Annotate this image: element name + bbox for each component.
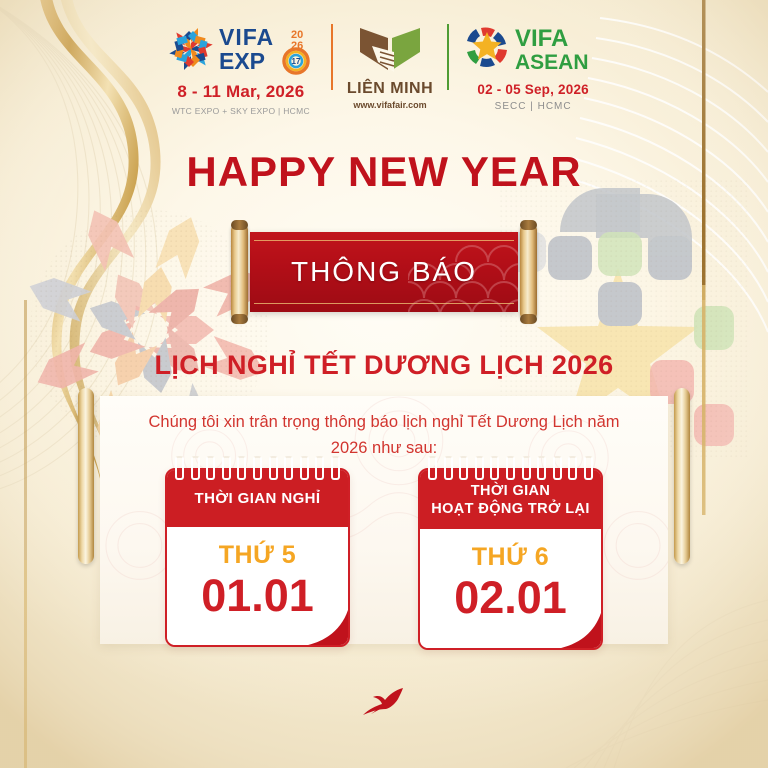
ring [284, 456, 293, 480]
svg-text:EXP: EXP [219, 48, 265, 74]
svg-text:VIFA: VIFA [219, 24, 274, 50]
banner-red-field: THÔNG BÁO [250, 232, 518, 312]
calendar-rings [175, 456, 340, 480]
vifa-expo-logo-block[interactable]: VIFA EXP 20 26 17 8 - 11 Mar, 2026 WTC E… [151, 22, 331, 116]
scroll-rod-right [520, 222, 537, 322]
calendar-weekday: THỨ 5 [173, 541, 342, 570]
ring [428, 456, 437, 480]
ring [191, 456, 200, 480]
announcement-banner: THÔNG BÁO [0, 222, 768, 322]
ring [444, 456, 453, 480]
ring [475, 456, 484, 480]
page-title: LỊCH NGHỈ TẾT DƯƠNG LỊCH 2026 [0, 350, 768, 381]
ring [331, 456, 340, 480]
ring [522, 456, 531, 480]
ring [222, 456, 231, 480]
vifa-expo-icon: VIFA EXP 20 26 17 [165, 22, 317, 76]
ring [175, 456, 184, 480]
lien-minh-logo-mark [354, 22, 426, 76]
calendar-body: THỜI GIAN HOẠT ĐỘNG TRỞ LẠI THỨ 6 02.01 [418, 468, 603, 650]
scroll-rod-left [231, 222, 248, 322]
intro-text: Chúng tôi xin trân trọng thông báo lịch … [134, 410, 634, 461]
calendar-cards: THỜI GIAN NGHỈ THỨ 5 01.01 [0, 468, 768, 650]
lien-minh-icon [354, 22, 426, 76]
ring [253, 456, 262, 480]
partner-logos-row: VIFA EXP 20 26 17 8 - 11 Mar, 2026 WTC E… [0, 22, 768, 116]
calendar-body: THỜI GIAN NGHỈ THỨ 5 01.01 [165, 468, 350, 647]
ring [269, 456, 278, 480]
greeting-title: HAPPY NEW YEAR [0, 148, 768, 196]
lien-minh-name: LIÊN MINH [347, 80, 433, 98]
ring [537, 456, 546, 480]
calendar-title-line2: HOẠT ĐỘNG TRỞ LẠI [431, 500, 590, 518]
page-curl-icon [292, 603, 350, 647]
vifa-asean-date: 02 - 05 Sep, 2026 [477, 82, 588, 97]
ring [584, 456, 593, 480]
lien-minh-url[interactable]: www.vifafair.com [353, 100, 426, 110]
ring [490, 456, 499, 480]
calendar-card-holiday[interactable]: THỜI GIAN NGHỈ THỨ 5 01.01 [165, 468, 350, 650]
ring [300, 456, 309, 480]
ring [568, 456, 577, 480]
ring [237, 456, 246, 480]
vifa-asean-logo-mark: VIFA ASEAN [463, 22, 603, 76]
calendar-rings [428, 456, 593, 480]
svg-text:ASEAN: ASEAN [515, 51, 589, 74]
ring [315, 456, 324, 480]
svg-text:VIFA: VIFA [515, 25, 568, 52]
new-year-announcement-poster: VIFA EXP 20 26 17 8 - 11 Mar, 2026 WTC E… [0, 0, 768, 768]
ring [506, 456, 515, 480]
ring [553, 456, 562, 480]
calendar-date-area: THỨ 5 01.01 [167, 527, 348, 645]
ring [459, 456, 468, 480]
vifa-expo-logo-mark: VIFA EXP 20 26 17 [165, 22, 317, 76]
vifa-expo-venue: WTC EXPO + SKY EXPO | HCMC [172, 106, 310, 116]
calendar-weekday: THỨ 6 [426, 543, 595, 572]
vifa-asean-logo-block[interactable]: VIFA ASEAN 02 - 05 Sep, 2026 SECC | HCMC [449, 22, 617, 112]
svg-text:17: 17 [291, 57, 300, 66]
ring [206, 456, 215, 480]
calendar-card-return[interactable]: THỜI GIAN HOẠT ĐỘNG TRỞ LẠI THỨ 6 02.01 [418, 468, 603, 650]
page-curl-icon [545, 606, 603, 650]
vifa-asean-venue: SECC | HCMC [495, 101, 572, 112]
banner-label: THÔNG BÁO [250, 232, 518, 312]
lien-minh-logo-block[interactable]: LIÊN MINH www.vifafair.com [333, 22, 447, 110]
swallow-bird-icon [362, 686, 406, 718]
vifa-expo-date: 8 - 11 Mar, 2026 [177, 82, 304, 102]
calendar-title-line1: THỜI GIAN [431, 482, 590, 500]
footer-decoration [0, 686, 768, 718]
vifa-asean-icon: VIFA ASEAN [463, 22, 603, 76]
calendar-date-area: THỨ 6 02.01 [420, 529, 601, 647]
